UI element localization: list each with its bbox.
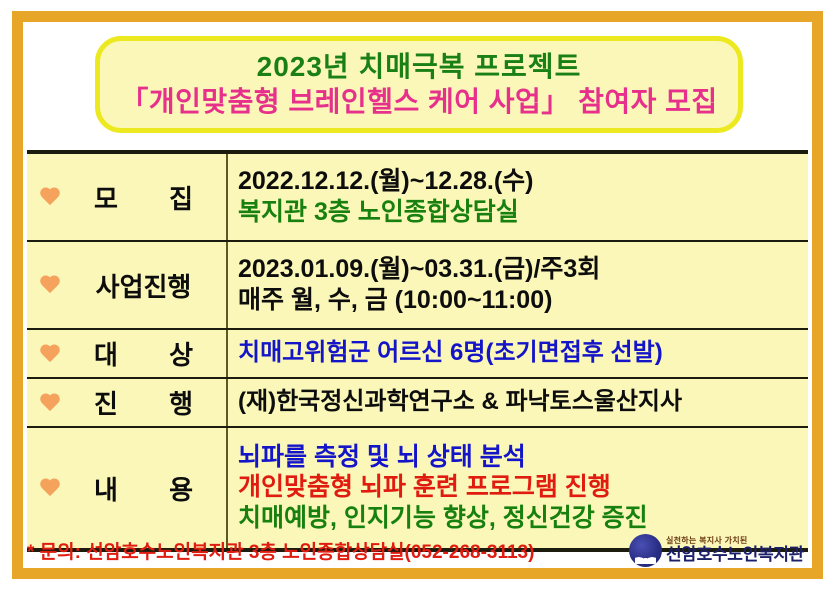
table-row: 진 행 (재)한국정신과학연구소 & 파낙토스울산지사 <box>27 379 808 428</box>
table-row: 모 집 2022.12.12.(월)~12.28.(수) 복지관 3층 노인종합… <box>27 154 808 242</box>
logo-tagline: 실천하는 복지사 가치된 <box>666 537 804 545</box>
row-content-cell: (재)한국정신과학연구소 & 파낙토스울산지사 <box>228 379 808 426</box>
info-table: 모 집 2022.12.12.(월)~12.28.(수) 복지관 3층 노인종합… <box>27 150 808 552</box>
row-label-text: 모 집 <box>71 179 226 216</box>
footer: * 문의: 선암호수노인복지관 3층 노인종합상담실(052-268-3113)… <box>27 533 808 567</box>
content-line: 치매예방, 인지기능 향상, 정신건강 증진 <box>238 504 808 534</box>
heart-icon <box>39 477 61 499</box>
row-label-text: 대 상 <box>71 335 226 372</box>
content-line: 2023.01.09.(월)~03.31.(금)/주3회 <box>238 255 808 285</box>
content-line: 개인맞춤형 뇌파 훈련 프로그램 진행 <box>238 473 808 503</box>
row-content-cell: 2022.12.12.(월)~12.28.(수) 복지관 3층 노인종합상담실 <box>228 154 808 240</box>
row-content-cell: 뇌파를 측정 및 뇌 상태 분석 개인맞춤형 뇌파 훈련 프로그램 진행 치매예… <box>228 428 808 548</box>
table-row: 내 용 뇌파를 측정 및 뇌 상태 분석 개인맞춤형 뇌파 훈련 프로그램 진행… <box>27 428 808 548</box>
heart-icon <box>39 392 61 414</box>
organization-logo: 실천하는 복지사 가치된 선암호수노인복지관 <box>629 534 808 567</box>
poster-root: 2023년 치매극복 프로젝트 「개인맞춤형 브레인헬스 케어 사업」 참여자 … <box>0 0 835 590</box>
contact-note: * 문의: 선암호수노인복지관 3층 노인종합상담실(052-268-3113) <box>27 537 534 564</box>
table-row: 사업진행 2023.01.09.(월)~03.31.(금)/주3회 매주 월, … <box>27 242 808 330</box>
row-label-cell: 대 상 <box>27 330 228 377</box>
row-label-text: 내 용 <box>71 470 226 507</box>
heart-icon <box>39 343 61 365</box>
row-label-cell: 모 집 <box>27 154 228 240</box>
title-line-1: 2023년 치매극복 프로젝트 <box>257 51 582 83</box>
content-line: 2022.12.12.(월)~12.28.(수) <box>238 167 808 197</box>
content-line: 매주 월, 수, 금 (10:00~11:00) <box>238 286 808 316</box>
logo-organization-name: 선암호수노인복지관 <box>666 546 804 563</box>
row-label-cell: 내 용 <box>27 428 228 548</box>
row-label-cell: 진 행 <box>27 379 228 426</box>
title-box: 2023년 치매극복 프로젝트 「개인맞춤형 브레인헬스 케어 사업」 참여자 … <box>95 36 743 133</box>
content-line: 치매고위험군 어르신 6명(초기면접후 선발) <box>238 339 808 367</box>
content-line: (재)한국정신과학연구소 & 파낙토스울산지사 <box>238 388 808 416</box>
title-line-2: 「개인맞춤형 브레인헬스 케어 사업」 참여자 모집 <box>120 86 717 118</box>
row-label-text: 진 행 <box>71 384 226 421</box>
row-content-cell: 치매고위험군 어르신 6명(초기면접후 선발) <box>228 330 808 377</box>
content-line: 뇌파를 측정 및 뇌 상태 분석 <box>238 443 808 473</box>
row-label-cell: 사업진행 <box>27 242 228 328</box>
logo-emblem-icon <box>629 534 662 567</box>
heart-icon <box>39 274 61 296</box>
logo-text-block: 실천하는 복지사 가치된 선암호수노인복지관 <box>666 537 804 563</box>
row-content-cell: 2023.01.09.(월)~03.31.(금)/주3회 매주 월, 수, 금 … <box>228 242 808 328</box>
row-label-text: 사업진행 <box>71 267 226 304</box>
content-line: 복지관 3층 노인종합상담실 <box>238 198 808 228</box>
heart-icon <box>39 186 61 208</box>
table-row: 대 상 치매고위험군 어르신 6명(초기면접후 선발) <box>27 330 808 379</box>
